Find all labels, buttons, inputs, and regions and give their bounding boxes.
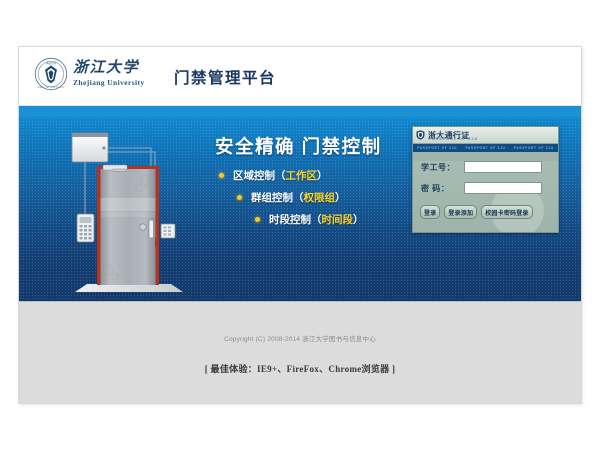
zju-seal-icon: 求是创新 ZHEJIANG UNIVERSITY	[34, 57, 68, 91]
bullet-icon	[237, 195, 242, 200]
bullet-icon	[219, 173, 224, 178]
page-title: 门禁管理平台	[174, 66, 276, 88]
page-container: 求是创新 ZHEJIANG UNIVERSITY 浙江大学 Zhejiang U…	[18, 46, 582, 404]
shield-icon	[416, 130, 425, 140]
svg-text:ZHEJIANG UNIVERSITY: ZHEJIANG UNIVERSITY	[37, 86, 64, 89]
site-logo[interactable]: 求是创新 ZHEJIANG UNIVERSITY 浙江大学 Zhejiang U…	[34, 57, 145, 91]
feature-item-time-control: 时段控制（ 时间段 ）	[255, 212, 364, 227]
login-panel-titlebar: 浙大通行证 PASSPORT OF ZJU	[413, 127, 558, 144]
login-add-button[interactable]: 登录添加	[444, 205, 477, 219]
logo-name-en: Zhejiang University	[73, 79, 145, 87]
logo-name-cn: 浙江大学	[73, 61, 145, 76]
card-reader	[161, 224, 175, 238]
feature-label: 群组控制（	[251, 190, 304, 205]
logo-wordmark: 浙江大学 Zhejiang University	[73, 61, 145, 87]
site-header: 求是创新 ZHEJIANG UNIVERSITY 浙江大学 Zhejiang U…	[19, 47, 581, 106]
site-footer: Copyright (C) 2008-2014 浙江大学图书与信息中心 [ 最佳…	[19, 301, 581, 403]
floor-plane	[75, 284, 183, 292]
field-row-student-staff-id: 学工号：	[413, 161, 558, 173]
feature-label: 时段控制（	[269, 212, 322, 227]
controller-box	[72, 133, 108, 162]
strip-text: PASSPORT OF ZJU	[465, 146, 505, 150]
bullet-icon	[255, 217, 260, 222]
login-button[interactable]: 登录	[420, 205, 440, 219]
field-row-password: 密 码：	[413, 182, 558, 194]
feature-tail: ）	[353, 212, 364, 227]
strip-text: PASSPORT OF ZJU	[514, 146, 554, 150]
feature-label: 区域控制（	[233, 168, 286, 183]
student-staff-id-input[interactable]	[464, 161, 542, 173]
door-panel	[101, 169, 156, 285]
screen: 求是创新 ZHEJIANG UNIVERSITY 浙江大学 Zhejiang U…	[0, 0, 600, 450]
keypad-reader	[77, 214, 94, 242]
student-staff-id-label: 学工号：	[421, 162, 464, 173]
svg-text:求是创新: 求是创新	[46, 61, 57, 65]
login-panel-subtitle: PASSPORT OF ZJU	[429, 137, 478, 141]
feature-item-area-control: 区域控制（ 工作区 ）	[219, 168, 364, 183]
login-panel-strip: PASSPORT OF ZJU PASSPORT OF ZJU PASSPORT…	[413, 144, 558, 152]
feature-tail: ）	[317, 168, 328, 183]
campus-card-login-button[interactable]: 校园卡密码登录	[481, 205, 532, 219]
password-input[interactable]	[464, 182, 542, 194]
login-form: 学工号： 密 码： 登录 登录添加 校园卡密码登录	[413, 161, 558, 233]
copyright-text: Copyright (C) 2008-2014 浙江大学图书与信息中心	[19, 302, 581, 343]
password-label: 密 码：	[421, 183, 464, 194]
banner-headline: 安全精确 门禁控制	[215, 133, 382, 159]
login-button-group: 登录 登录添加 校园卡密码登录	[413, 205, 558, 219]
door-access-control-illustration	[59, 128, 199, 300]
banner-accent-bar	[19, 106, 581, 117]
strip-text: PASSPORT OF ZJU	[417, 146, 457, 150]
banner-feature-list: 区域控制（ 工作区 ） 群组控制（ 权限组 ） 时段控制（ 时间段 ）	[219, 168, 364, 234]
hero-banner: 安全精确 门禁控制 区域控制（ 工作区 ） 群组控制（ 权限组 ） 时段控制（	[19, 106, 581, 301]
login-panel: 浙大通行证 PASSPORT OF ZJU PASSPORT OF ZJU PA…	[412, 126, 559, 233]
feature-tail: ）	[335, 190, 346, 205]
feature-highlight: 权限组	[304, 190, 336, 205]
browser-recommendation-text: [ 最佳体验：IE9+、FireFox、Chrome浏览器 ]	[19, 343, 581, 375]
feature-highlight: 时间段	[322, 212, 354, 227]
feature-highlight: 工作区	[286, 168, 318, 183]
feature-item-group-control: 群组控制（ 权限组 ）	[237, 190, 364, 205]
